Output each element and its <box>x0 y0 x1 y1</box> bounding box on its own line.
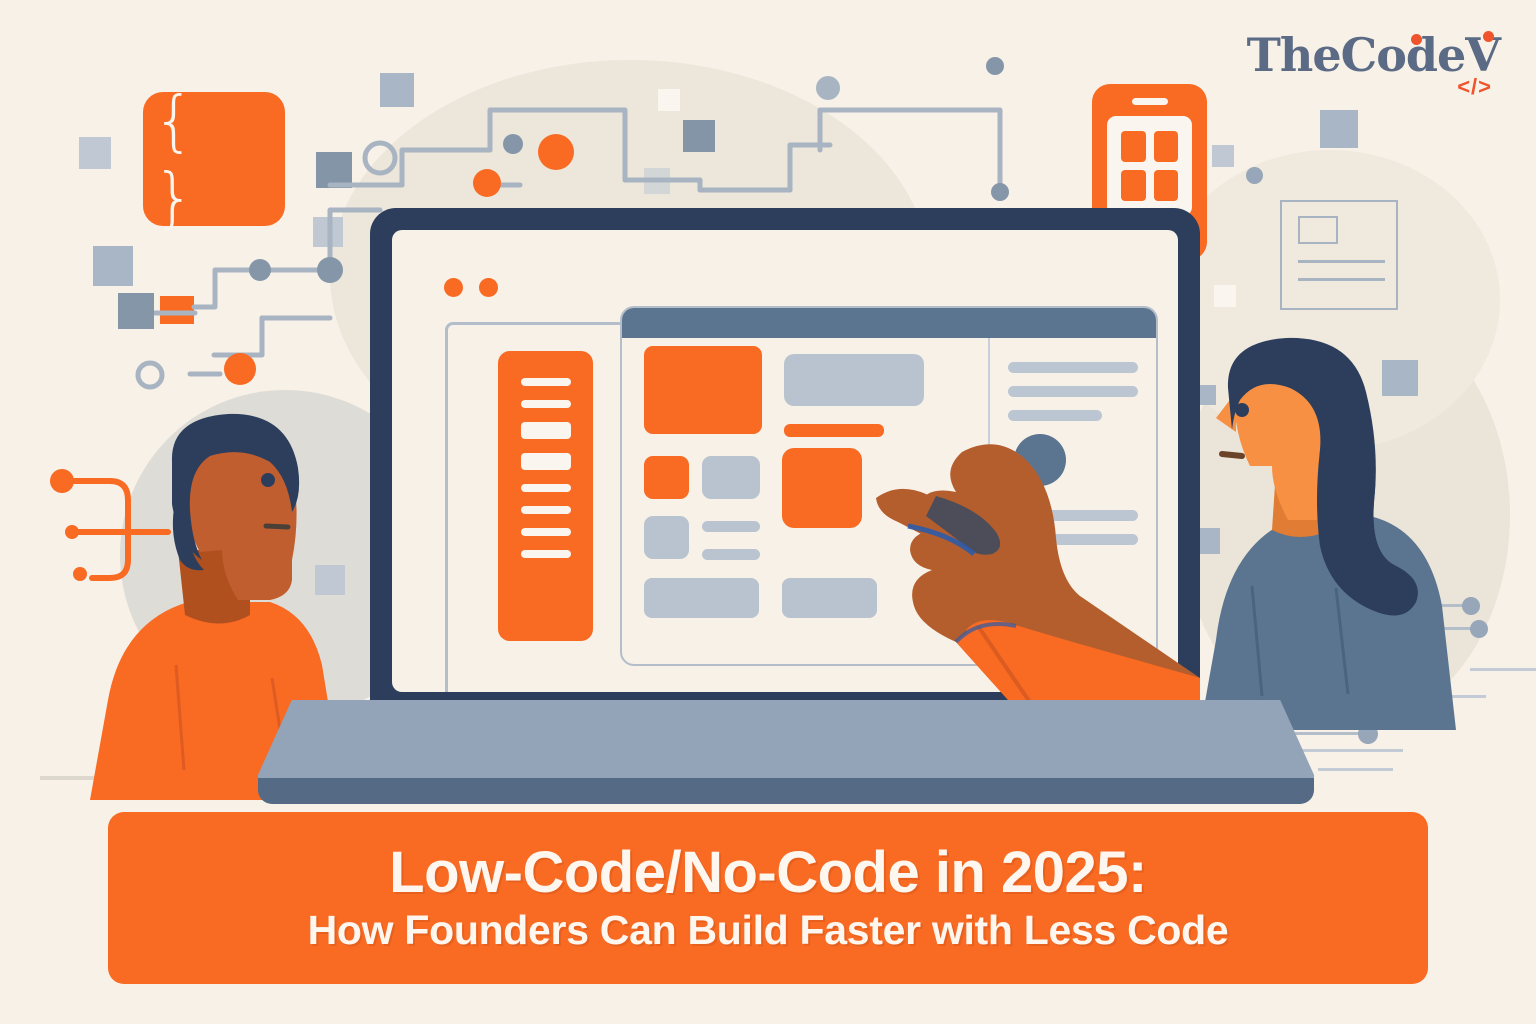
deco-square <box>1320 110 1358 148</box>
deco-square <box>1212 145 1234 167</box>
woman-eye <box>1235 403 1249 417</box>
deco-node-dot <box>1246 167 1263 184</box>
logo-dot <box>1483 31 1494 42</box>
canvas-text-line[interactable] <box>702 549 760 560</box>
logo-dot <box>1411 34 1422 45</box>
canvas-tile[interactable] <box>702 456 760 499</box>
deco-line <box>1318 768 1393 771</box>
wireframe-line <box>1298 260 1385 263</box>
deco-square <box>93 246 133 286</box>
builder-sidebar[interactable] <box>498 351 593 641</box>
sidebar-item[interactable] <box>521 422 571 439</box>
phone-app-tile <box>1154 170 1179 201</box>
inspector-line <box>1008 362 1138 373</box>
sidebar-item[interactable] <box>521 506 571 514</box>
phone-screen <box>1107 116 1192 216</box>
title-banner: Low-Code/No-Code in 2025: How Founders C… <box>108 812 1428 984</box>
inspector-line <box>1008 410 1102 421</box>
code-braces-icon: { } <box>143 92 285 226</box>
brand-name: TheCodeV <box>1247 28 1500 82</box>
sidebar-item[interactable] <box>521 453 571 470</box>
canvas-text-line[interactable] <box>702 521 760 532</box>
deco-square <box>644 168 670 194</box>
window-dot[interactable] <box>479 278 498 297</box>
canvas-tile[interactable] <box>644 456 689 499</box>
canvas-placeholder-block[interactable] <box>784 354 924 406</box>
woman-mouth <box>1222 454 1242 456</box>
sidebar-item[interactable] <box>521 528 571 536</box>
phone-app-tile <box>1121 170 1146 201</box>
deco-square <box>1214 285 1236 307</box>
phone-speaker <box>1132 98 1168 105</box>
sidebar-item[interactable] <box>521 484 571 492</box>
phone-app-tile <box>1121 131 1146 162</box>
sidebar-item[interactable] <box>521 400 571 408</box>
sidebar-item[interactable] <box>521 550 571 558</box>
man-mouth <box>266 526 288 527</box>
hand-dragging-card <box>780 430 1200 720</box>
deco-square <box>160 296 194 324</box>
window-dot[interactable] <box>444 278 463 297</box>
deco-square <box>380 73 414 107</box>
deco-square <box>79 137 111 169</box>
wireframe-image-placeholder <box>1298 216 1338 244</box>
canvas-footer-block[interactable] <box>644 578 759 618</box>
banner-subtitle: How Founders Can Build Faster with Less … <box>308 908 1229 953</box>
window-traffic-lights <box>444 278 498 297</box>
deco-square <box>316 152 352 188</box>
canvas-hero-block[interactable] <box>644 346 762 434</box>
deco-square <box>658 89 680 111</box>
deco-square <box>683 120 715 152</box>
brand-logo[interactable]: TheCodeV </> <box>1247 28 1500 100</box>
person-founder-right <box>1180 330 1490 730</box>
phone-app-tile <box>1154 131 1179 162</box>
wireframe-line <box>1298 278 1385 281</box>
canvas-tile[interactable] <box>644 516 689 559</box>
wireframe-card-icon <box>1280 200 1398 310</box>
hero-illustration: { } <box>0 0 1536 1024</box>
window-titlebar <box>622 308 1156 338</box>
inspector-line <box>1008 386 1138 397</box>
banner-title: Low-Code/No-Code in 2025: <box>389 843 1147 904</box>
deco-square <box>313 217 343 247</box>
sidebar-item[interactable] <box>521 378 571 386</box>
laptop-base-front-edge <box>258 778 1314 804</box>
man-eye <box>261 473 275 487</box>
